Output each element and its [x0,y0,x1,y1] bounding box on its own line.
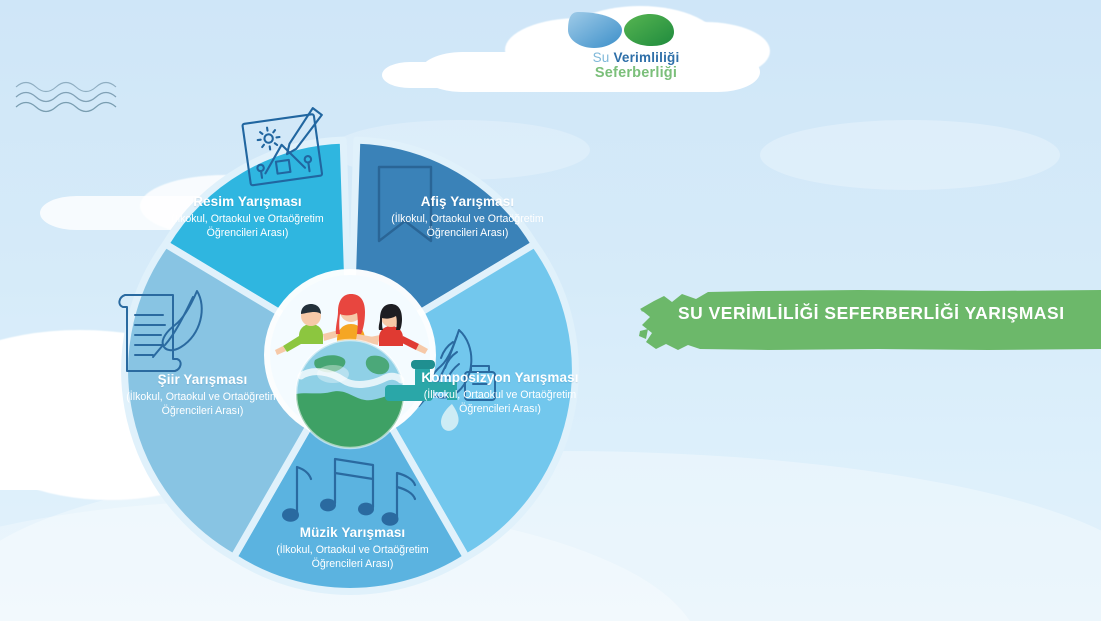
logo-wordmark: Su Verimliliği Seferberliği [556,50,716,81]
pie-svg [85,100,615,610]
competition-pie-chart: Resim Yarışması (İlkokul, Ortaokul ve Or… [85,100,615,610]
logo-word-seferberligi: Seferberliği [556,65,716,81]
logo-word-verimliligi: Verimliliği [613,50,679,65]
water-drop-leaf-icon [556,6,716,54]
banner-title: SU VERİMLİLİĞİ SEFERBERLİĞİ YARIŞMASI [678,303,1101,324]
infographic-slide: Su Verimliliği Seferberliği [0,0,1101,621]
brand-logo[interactable]: Su Verimliliği Seferberliği [556,6,716,90]
cloud-shape [760,120,1060,190]
logo-word-su: Su [593,50,610,65]
